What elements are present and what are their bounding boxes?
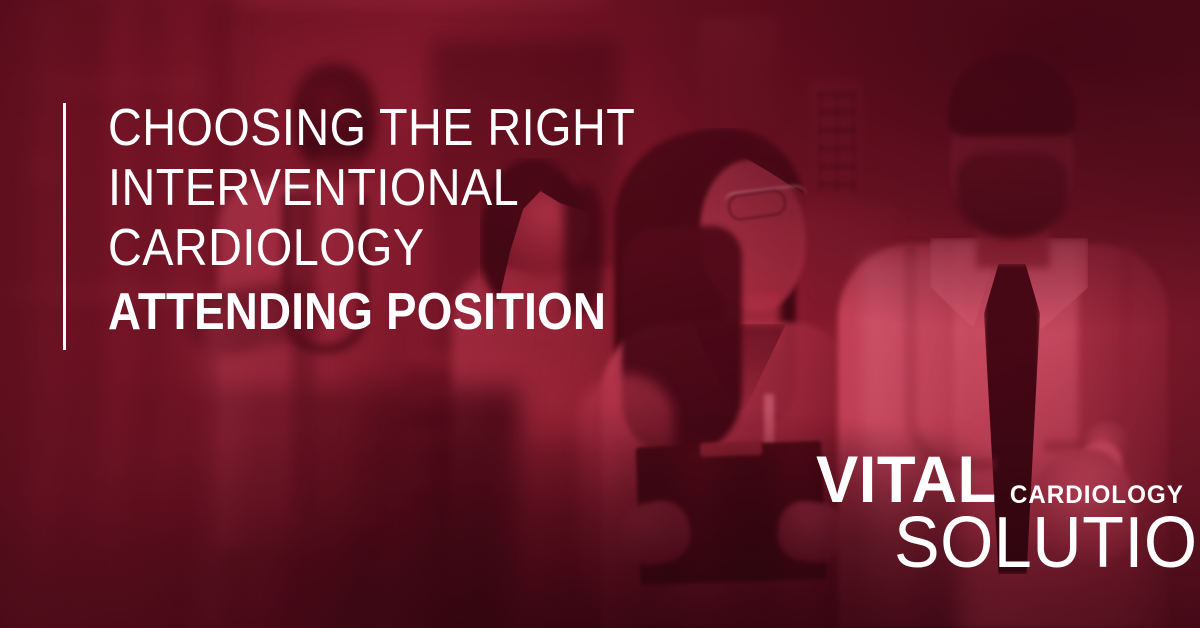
banner-content: CHOOSING THE RIGHT INTERVENTIONAL CARDIO… [0, 0, 1200, 628]
page-title: CHOOSING THE RIGHT INTERVENTIONAL CARDIO… [108, 98, 668, 342]
brand-logo-top-row: VITAL CARDIOLOGY [816, 448, 1190, 510]
accent-bar [63, 103, 66, 350]
headline-line-3: CARDIOLOGY [108, 218, 612, 278]
headline-line-emphasis: ATTENDING POSITION [108, 278, 601, 342]
headline-line-2: INTERVENTIONAL [108, 158, 612, 218]
brand-logo-vital: VITAL [816, 448, 997, 510]
marketing-hero-banner: CHOOSING THE RIGHT INTERVENTIONAL CARDIO… [0, 0, 1200, 628]
headline-line-1: CHOOSING THE RIGHT [108, 98, 612, 158]
brand-logo[interactable]: VITAL CARDIOLOGY SOLUTION [816, 448, 1146, 590]
brand-logo-solution: SOLUTION [894, 506, 1200, 580]
